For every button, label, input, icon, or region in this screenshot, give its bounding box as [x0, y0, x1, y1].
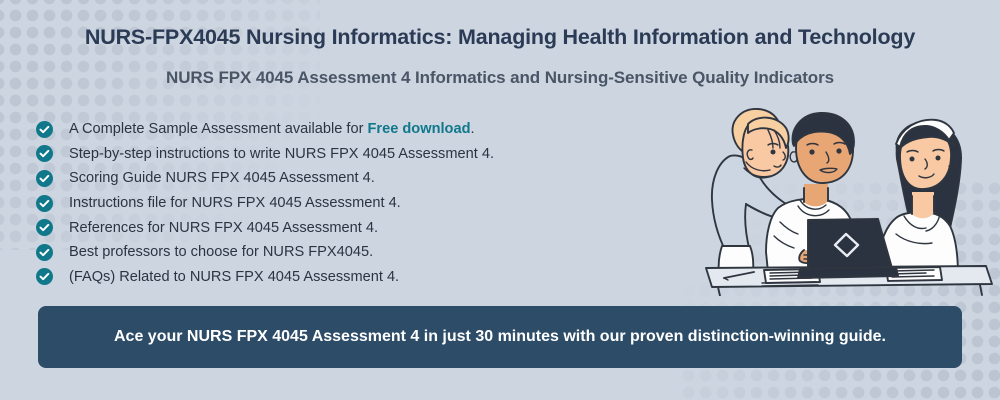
- list-item: Best professors to choose for NURS FPX40…: [36, 240, 494, 265]
- promo-banner-root: NURS-FPX4045 Nursing Informatics: Managi…: [0, 0, 1000, 400]
- free-download-link[interactable]: Free download: [368, 121, 471, 137]
- check-circle-icon: [36, 145, 53, 162]
- page-subtitle: NURS FPX 4045 Assessment 4 Informatics a…: [0, 67, 1000, 88]
- check-circle-icon: [36, 268, 53, 285]
- cta-banner-text: Ace your NURS FPX 4045 Assessment 4 in j…: [114, 325, 886, 348]
- list-item: Step-by-step instructions to write NURS …: [36, 142, 494, 167]
- list-item-text-tail: .: [471, 121, 475, 137]
- list-item-text: Step-by-step instructions to write NURS …: [69, 146, 494, 162]
- check-circle-icon: [36, 219, 53, 236]
- check-circle-icon: [36, 170, 53, 187]
- feature-list: A Complete Sample Assessment available f…: [36, 117, 494, 289]
- list-item-text: Scoring Guide NURS FPX 4045 Assessment 4…: [69, 170, 375, 186]
- list-item: A Complete Sample Assessment available f…: [36, 117, 494, 142]
- list-item-text: References for NURS FPX 4045 Assessment …: [69, 220, 378, 236]
- list-item-text: Best professors to choose for NURS FPX40…: [69, 244, 373, 260]
- list-item-text-main: A Complete Sample Assessment available f…: [69, 121, 368, 137]
- cta-banner[interactable]: Ace your NURS FPX 4045 Assessment 4 in j…: [38, 306, 962, 368]
- list-item: References for NURS FPX 4045 Assessment …: [36, 215, 494, 240]
- heading-block: NURS-FPX4045 Nursing Informatics: Managi…: [0, 24, 1000, 88]
- list-item: Scoring Guide NURS FPX 4045 Assessment 4…: [36, 166, 494, 191]
- three-students-at-desk-with-laptop-illustration: .ln { fill:none; stroke:#2f3640; stroke-…: [700, 100, 996, 296]
- list-item-text: (FAQs) Related to NURS FPX 4045 Assessme…: [69, 269, 399, 285]
- list-item: (FAQs) Related to NURS FPX 4045 Assessme…: [36, 265, 494, 290]
- list-item: Instructions file for NURS FPX 4045 Asse…: [36, 191, 494, 216]
- list-item-text: A Complete Sample Assessment available f…: [69, 121, 475, 137]
- check-circle-icon: [36, 121, 53, 138]
- check-circle-icon: [36, 244, 53, 261]
- page-title: NURS-FPX4045 Nursing Informatics: Managi…: [0, 24, 1000, 51]
- list-item-text: Instructions file for NURS FPX 4045 Asse…: [69, 195, 401, 211]
- check-circle-icon: [36, 195, 53, 212]
